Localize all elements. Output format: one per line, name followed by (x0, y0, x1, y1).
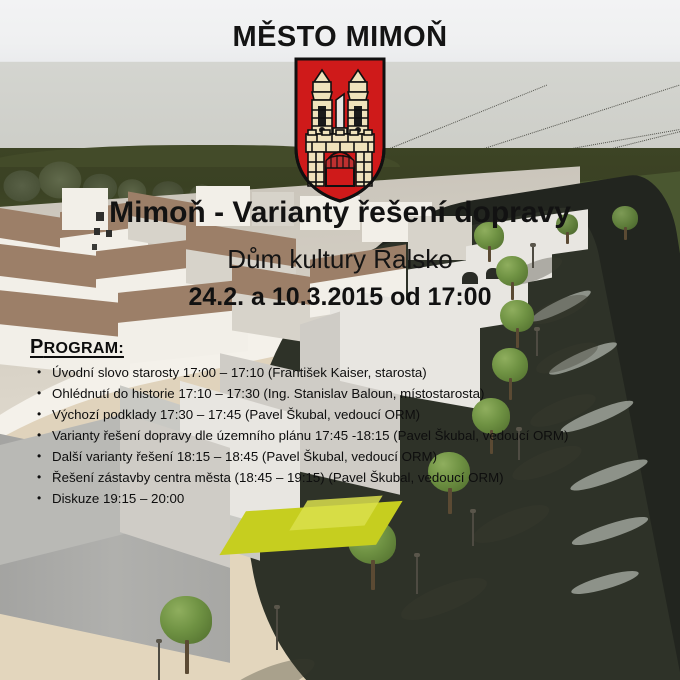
list-item: Ohlédnutí do historie 17:10 – 17:30 (Ing… (30, 386, 612, 402)
program-heading: PROGRAM: (30, 336, 124, 359)
page-title: MĚSTO MIMOŇ (0, 21, 680, 54)
list-item: Řešení zástavby centra města (18:45 – 19… (30, 470, 612, 486)
window-dot-3 (106, 230, 112, 237)
promenade-tree-8 (160, 596, 212, 674)
program-heading-rest: ROGRAM: (44, 340, 124, 357)
program-list: Úvodní slovo starosty 17:00 – 17:10 (Fra… (30, 365, 660, 507)
poster-root: MĚSTO MIMOŇ (0, 0, 680, 680)
lamp-post-7 (158, 642, 160, 680)
list-item: Úvodní slovo starosty 17:00 – 17:10 (Fra… (30, 365, 612, 381)
list-item: Diskuze 19:15 – 20:00 (30, 491, 612, 507)
lamp-post-4 (472, 512, 474, 546)
lamp-post-6 (276, 608, 278, 650)
mimon-coat-of-arms-icon (292, 56, 388, 204)
list-item: Výchozí podklady 17:30 – 17:45 (Pavel Šk… (30, 407, 612, 423)
list-item: Varianty řešení dopravy dle územního plá… (30, 428, 612, 444)
event-dates: 24.2. a 10.3.2015 od 17:00 (0, 283, 680, 312)
lamp-post-5 (416, 556, 418, 594)
program-heading-initial: P (30, 336, 44, 358)
program-section: PROGRAM: Úvodní slovo starosty 17:00 – 1… (30, 336, 660, 512)
list-item: Další varianty řešení 18:15 – 18:45 (Pav… (30, 449, 612, 465)
event-venue: Dům kultury Ralsko (0, 244, 680, 275)
event-title: Mimoň - Varianty řešení dopravy (0, 196, 680, 230)
